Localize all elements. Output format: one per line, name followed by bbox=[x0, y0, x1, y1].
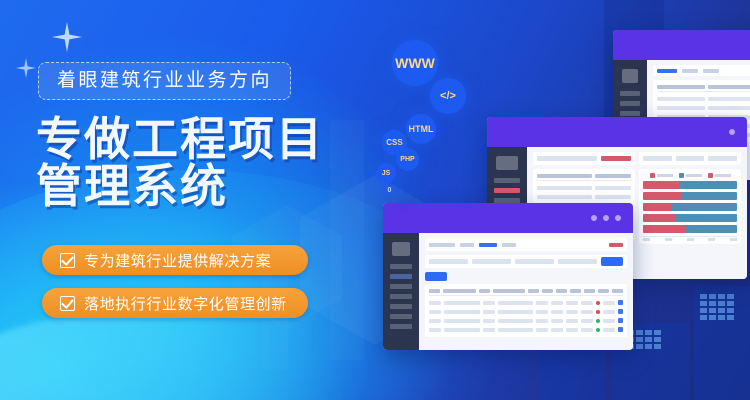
nav-badge[interactable] bbox=[609, 243, 623, 247]
nav-tab-active[interactable] bbox=[657, 69, 677, 73]
sidebar-item-active[interactable] bbox=[390, 274, 412, 279]
top-nav[interactable] bbox=[653, 65, 750, 76]
headline-line-1: 专做工程项目 bbox=[36, 113, 324, 165]
chart-bar-segment bbox=[682, 192, 737, 200]
window-dot bbox=[603, 215, 609, 221]
row-action-icon[interactable] bbox=[618, 300, 623, 305]
sidebar-item[interactable] bbox=[390, 324, 412, 329]
table-row[interactable] bbox=[429, 316, 623, 325]
search-button[interactable] bbox=[601, 257, 623, 266]
tower-silhouette bbox=[330, 120, 364, 360]
data-table bbox=[425, 284, 627, 337]
right-panel bbox=[639, 152, 741, 274]
tech-bubble-0: 0 bbox=[382, 183, 397, 198]
checkbox-check-icon bbox=[60, 296, 75, 311]
sidebar[interactable] bbox=[383, 233, 419, 350]
table-header bbox=[429, 287, 623, 296]
status-dot bbox=[596, 319, 600, 323]
chart-bar-segment bbox=[679, 181, 737, 189]
chart-bar-row bbox=[643, 192, 737, 200]
table-row[interactable] bbox=[657, 103, 750, 112]
window-body bbox=[383, 233, 633, 350]
subtitle-badge: 着眼建筑行业业务方向 bbox=[38, 62, 291, 100]
table-row[interactable] bbox=[429, 307, 623, 316]
chart-bar-segment bbox=[643, 203, 671, 211]
nav-tab-active[interactable] bbox=[479, 243, 497, 247]
chart-axis bbox=[643, 236, 737, 240]
status-dot bbox=[596, 301, 600, 305]
table-row[interactable] bbox=[537, 183, 631, 192]
nav-tab[interactable] bbox=[703, 69, 719, 73]
checkbox-check-icon bbox=[60, 253, 75, 268]
add-button[interactable] bbox=[425, 272, 447, 281]
status-dot bbox=[596, 310, 600, 314]
chart-bar-segment bbox=[671, 203, 737, 211]
bar-chart bbox=[639, 169, 741, 244]
sparkle-icon bbox=[16, 58, 36, 78]
row-action-icon[interactable] bbox=[618, 309, 623, 314]
status-dot bbox=[596, 328, 600, 332]
legend-item bbox=[650, 173, 673, 178]
feature-pill-2-label: 落地执行行业数字化管理创新 bbox=[84, 293, 287, 314]
row-action-icon[interactable] bbox=[618, 327, 623, 332]
tech-bubble-php: PHP bbox=[396, 148, 419, 171]
window-dot bbox=[729, 129, 735, 135]
sidebar-item[interactable] bbox=[390, 284, 412, 289]
top-nav[interactable] bbox=[425, 238, 627, 251]
chart-bar-row bbox=[643, 203, 737, 211]
sidebar-logo bbox=[496, 156, 518, 170]
promo-banner: WWW</>HTMLCSSPHPJS0 着眼建筑行业业务方向 专做工程项目 管理… bbox=[0, 0, 750, 400]
table-header bbox=[537, 172, 631, 181]
chart-bar-row bbox=[643, 214, 737, 222]
filter-bar[interactable] bbox=[533, 152, 635, 165]
table-row[interactable] bbox=[429, 325, 623, 334]
filter-bar[interactable] bbox=[639, 152, 741, 165]
chart-bar-row bbox=[643, 181, 737, 189]
headline-line-2: 管理系统 bbox=[36, 163, 324, 210]
sparkle-icon bbox=[52, 22, 82, 52]
tech-bubble-: </> bbox=[430, 78, 466, 114]
nav-brand bbox=[429, 243, 455, 247]
row-action-icon[interactable] bbox=[618, 318, 623, 323]
nav-tab[interactable] bbox=[502, 243, 516, 247]
window-front-table[interactable] bbox=[383, 203, 633, 350]
building-windows bbox=[700, 294, 734, 320]
table-row[interactable] bbox=[537, 192, 631, 201]
nav-tab[interactable] bbox=[460, 243, 474, 247]
tech-bubble-www: WWW bbox=[392, 40, 438, 86]
chart-bar-segment bbox=[643, 192, 682, 200]
legend-item bbox=[708, 173, 731, 178]
chart-bar-segment bbox=[643, 181, 679, 189]
chart-bar-segment bbox=[643, 214, 676, 222]
sidebar-logo bbox=[392, 242, 410, 256]
chart-bar-segment bbox=[643, 225, 685, 233]
page-title: 专做工程项目 管理系统 bbox=[36, 116, 324, 211]
nav-tab[interactable] bbox=[682, 69, 698, 73]
chart-bar-segment bbox=[676, 214, 737, 222]
window-dot bbox=[615, 215, 621, 221]
table-row[interactable] bbox=[657, 94, 750, 103]
sidebar-item-active[interactable] bbox=[494, 188, 520, 193]
chart-bars bbox=[643, 181, 737, 233]
sidebar-item[interactable] bbox=[390, 294, 412, 299]
feature-pill-1-label: 专为建筑行业提供解决方案 bbox=[84, 250, 271, 271]
table-header bbox=[657, 83, 750, 92]
filter-bar[interactable] bbox=[425, 255, 627, 268]
chart-bar-segment bbox=[685, 225, 737, 233]
content-area bbox=[419, 233, 633, 350]
sidebar-logo bbox=[622, 69, 638, 83]
window-titlebar bbox=[613, 30, 750, 60]
sidebar-item[interactable] bbox=[620, 101, 640, 106]
window-titlebar bbox=[487, 117, 747, 147]
sidebar-item[interactable] bbox=[494, 178, 520, 183]
sidebar-item[interactable] bbox=[390, 304, 412, 309]
sidebar-item[interactable] bbox=[620, 111, 640, 116]
chart-bar-row bbox=[643, 225, 737, 233]
chart-legend bbox=[643, 173, 737, 178]
window-titlebar bbox=[383, 203, 633, 233]
legend-item bbox=[679, 173, 702, 178]
sidebar-item[interactable] bbox=[390, 314, 412, 319]
city-block bbox=[694, 286, 750, 400]
sidebar-item[interactable] bbox=[620, 91, 640, 96]
tech-bubble-html: HTML bbox=[406, 114, 436, 144]
window-dot bbox=[591, 215, 597, 221]
feature-pill-2[interactable]: 落地执行行业数字化管理创新 bbox=[42, 288, 308, 318]
table-row[interactable] bbox=[429, 298, 623, 307]
tech-bubble-js: JS bbox=[376, 163, 396, 183]
feature-pill-1[interactable]: 专为建筑行业提供解决方案 bbox=[42, 245, 308, 275]
sidebar-item[interactable] bbox=[390, 264, 412, 269]
